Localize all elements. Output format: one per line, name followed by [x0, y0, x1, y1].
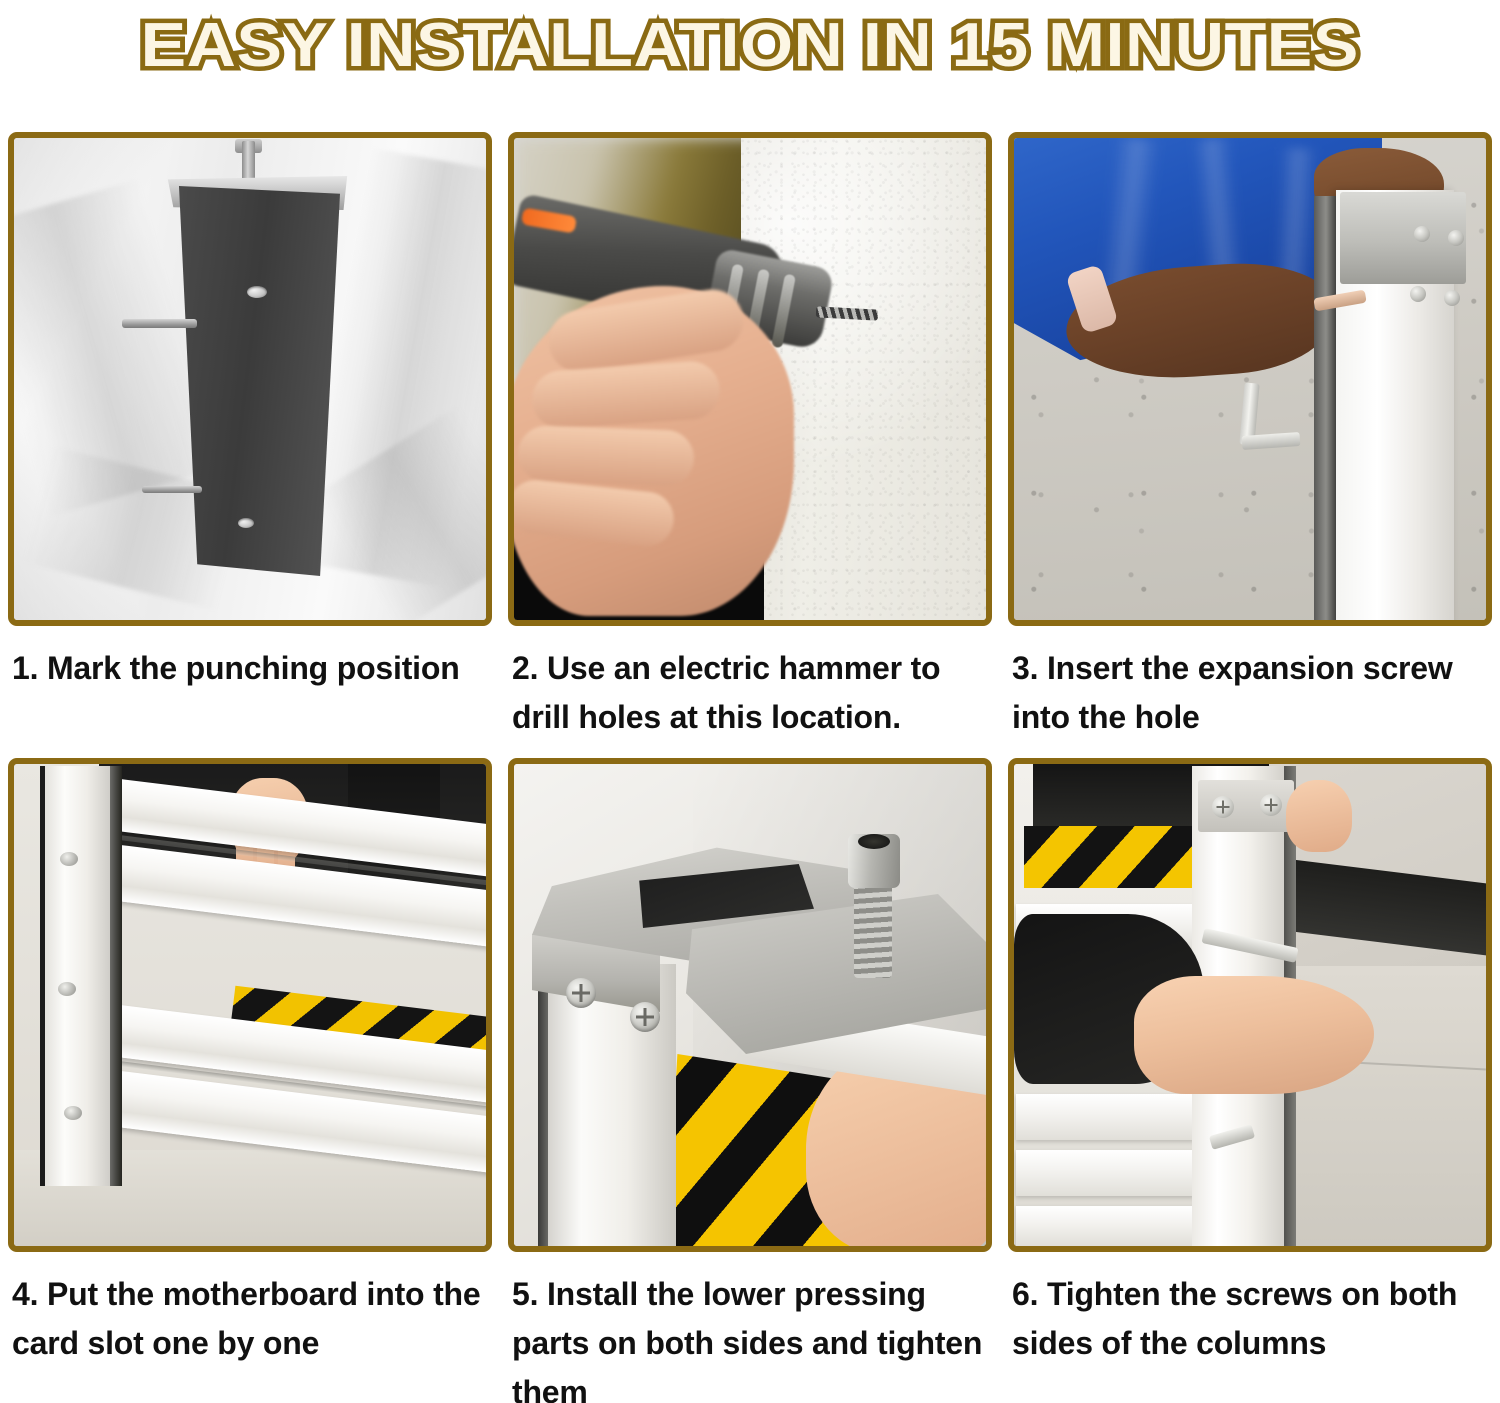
step-3-caption: 3. Insert the expansion screw into the h…	[1008, 644, 1492, 742]
step-card-6: 6. Tighten the screws on both sides of t…	[1008, 758, 1492, 1403]
expansion-screw-insert-photo	[1014, 138, 1486, 620]
step-6-caption: 6. Tighten the screws on both sides of t…	[1008, 1270, 1492, 1368]
step-1-photo-frame	[8, 132, 492, 626]
step-2-photo-frame	[508, 132, 992, 626]
page-title: EASY INSTALLATION IN 15 MINUTES	[141, 12, 1359, 80]
step-card-4: 4. Put the motherboard into the card slo…	[8, 758, 492, 1403]
step-4-caption: 4. Put the motherboard into the card slo…	[8, 1270, 492, 1368]
step-card-2: 2. Use an electric hammer to drill holes…	[508, 132, 992, 742]
step-4-photo-frame	[8, 758, 492, 1252]
step-5-photo-frame	[508, 758, 992, 1252]
step-5-caption: 5. Install the lower pressing parts on b…	[508, 1270, 992, 1403]
step-card-5: 5. Install the lower pressing parts on b…	[508, 758, 992, 1403]
mounting-plate-marking-photo	[14, 138, 486, 620]
header-banner: EASY INSTALLATION IN 15 MINUTES	[0, 2, 1500, 90]
step-3-photo-frame	[1008, 132, 1492, 626]
installation-guide-page: EASY INSTALLATION IN 15 MINUTES	[0, 0, 1500, 1403]
step-1-caption: 1. Mark the punching position	[8, 644, 492, 740]
step-card-3: 3. Insert the expansion screw into the h…	[1008, 132, 1492, 742]
step-6-photo-frame	[1008, 758, 1492, 1252]
electric-hammer-drilling-photo	[514, 138, 986, 620]
steps-grid: 1. Mark the punching position	[8, 132, 1492, 1403]
step-card-1: 1. Mark the punching position	[8, 132, 492, 742]
motherboard-card-slot-photo	[14, 764, 486, 1246]
tighten-column-screws-photo	[1014, 764, 1486, 1246]
lower-pressing-part-photo	[514, 764, 986, 1246]
step-2-caption: 2. Use an electric hammer to drill holes…	[508, 644, 992, 742]
